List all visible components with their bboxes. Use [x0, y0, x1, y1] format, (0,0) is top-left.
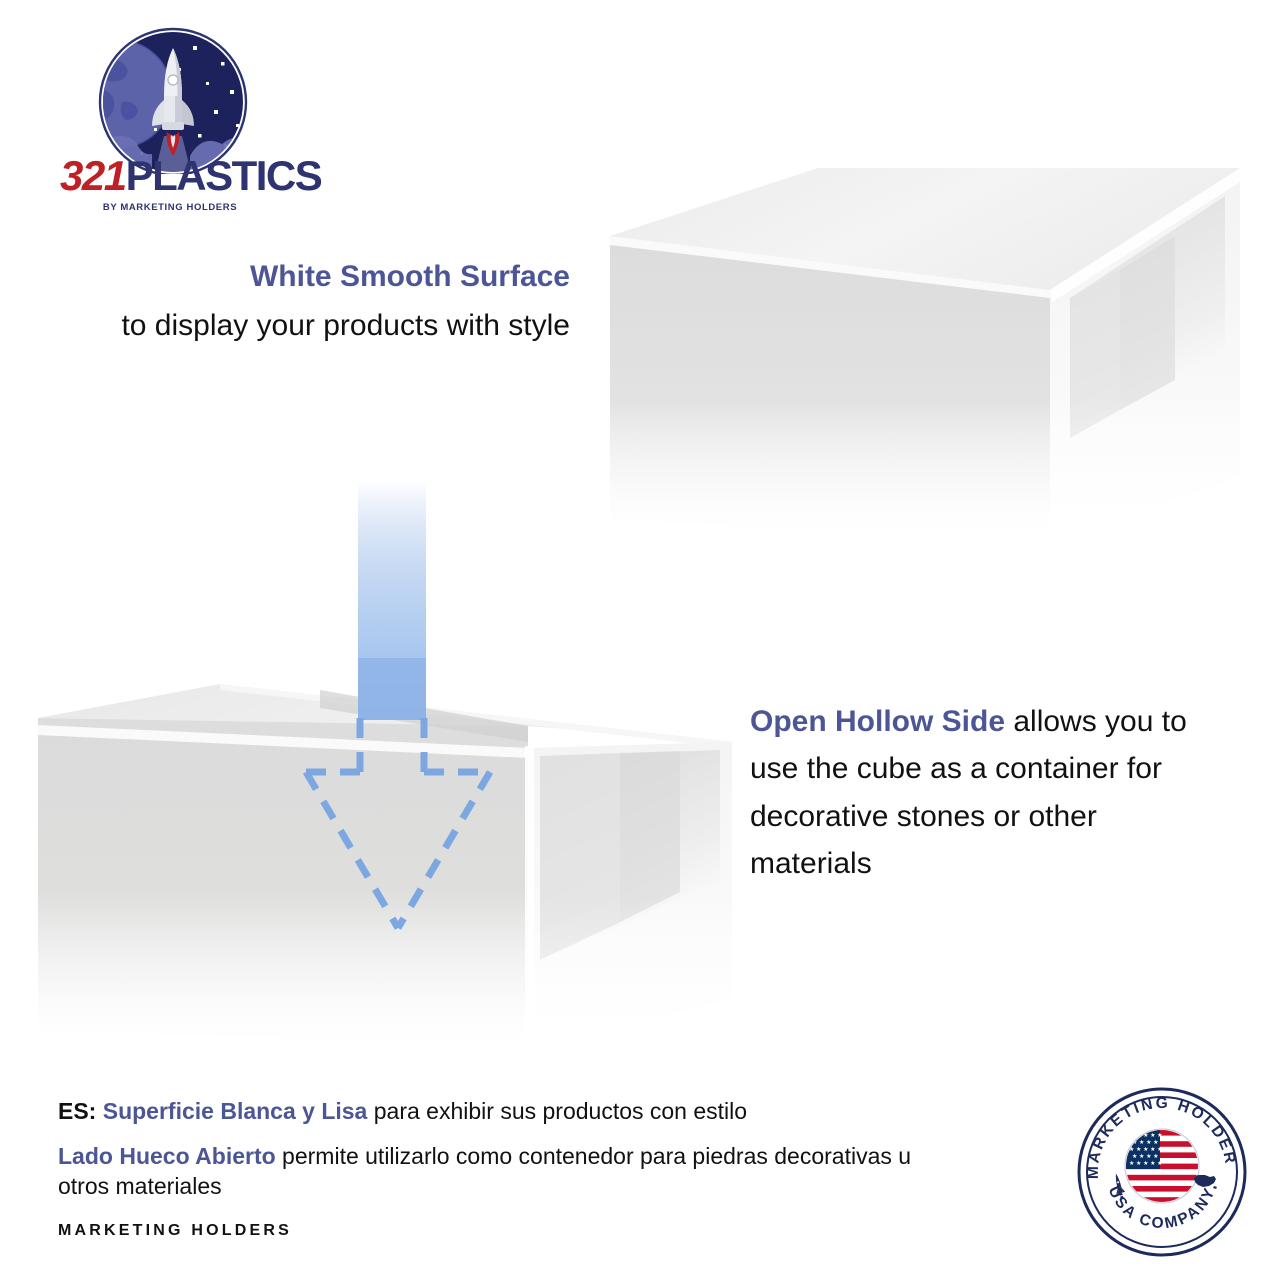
callout-open-hollow-side: Open Hollow Side allows you to use the c…	[750, 698, 1200, 888]
usa-company-seal: MARKETING HOLDERS USA COMPANY	[1076, 1086, 1248, 1258]
logo-word-plastics: PLASTICS	[126, 152, 322, 199]
callout-top-heading: White Smooth Surface	[90, 253, 570, 300]
brand-logo: 321PLASTICS BY MARKETING HOLDERS	[60, 24, 280, 214]
logo-word-321: 321	[60, 152, 126, 199]
footer-brand-name: MARKETING HOLDERS	[58, 1222, 292, 1240]
spanish-line-1-accent: Superficie Blanca y Lisa	[103, 1098, 368, 1124]
logo-wordmark: 321PLASTICS	[60, 155, 280, 197]
spanish-line-1-rest: para exhibir sus productos con estilo	[367, 1098, 747, 1124]
callout-bottom-heading: Open Hollow Side	[750, 705, 1005, 738]
svg-text:★ ★ ★ ★: ★ ★ ★ ★	[1132, 1153, 1159, 1160]
closed-white-cube	[600, 148, 1250, 548]
callout-top-body: to display your products with style	[121, 309, 570, 342]
usa-flag-icon: ★ ★ ★ ★ ★ ★ ★ ★ ★ ★ ★ ★ ★ ★ ★ ★ ★ ★ ★ ★ …	[1125, 1129, 1199, 1203]
spanish-line-2-accent: Lado Hueco Abierto	[58, 1143, 276, 1169]
svg-text:★ ★ ★ ★ ★: ★ ★ ★ ★ ★	[1129, 1160, 1163, 1167]
spanish-line-1: ES: Superficie Blanca y Lisa para exhibi…	[58, 1097, 938, 1127]
spanish-language-tag: ES:	[58, 1098, 96, 1124]
spanish-translation-block: ES: Superficie Blanca y Lisa para exhibi…	[58, 1097, 938, 1217]
spanish-line-2: Lado Hueco Abierto permite utilizarlo co…	[58, 1142, 938, 1202]
callout-white-smooth-surface: White Smooth Surface to display your pro…	[90, 253, 570, 350]
insert-direction-arrow	[290, 480, 520, 940]
infographic-canvas: 321PLASTICS BY MARKETING HOLDERS	[0, 0, 1280, 1280]
logo-tagline: BY MARKETING HOLDERS	[60, 202, 280, 213]
svg-text:★ ★ ★ ★ ★: ★ ★ ★ ★ ★	[1129, 1146, 1163, 1153]
